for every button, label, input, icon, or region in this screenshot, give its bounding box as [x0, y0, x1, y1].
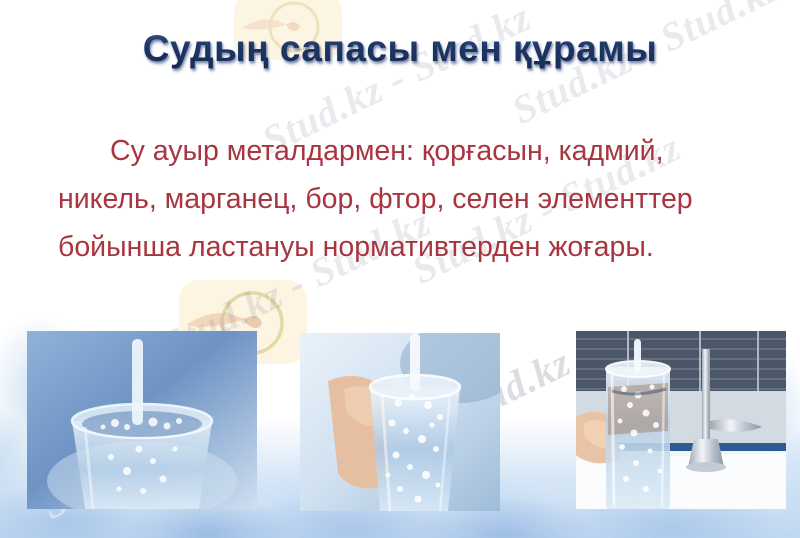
slide-body-text: Су ауыр металдармен: қорғасын, кадмий, н… [58, 127, 748, 271]
slide-title: Судың сапасы мен құрамы [0, 27, 800, 71]
photo-hand-holding-glass-being-filled [300, 333, 500, 511]
photo-glass-of-water-at-faucet [576, 331, 786, 509]
photo-water-pouring-into-glass [27, 331, 257, 509]
slide-canvas: Судың сапасы мен құрамы Су ауыр металдар… [0, 0, 800, 538]
